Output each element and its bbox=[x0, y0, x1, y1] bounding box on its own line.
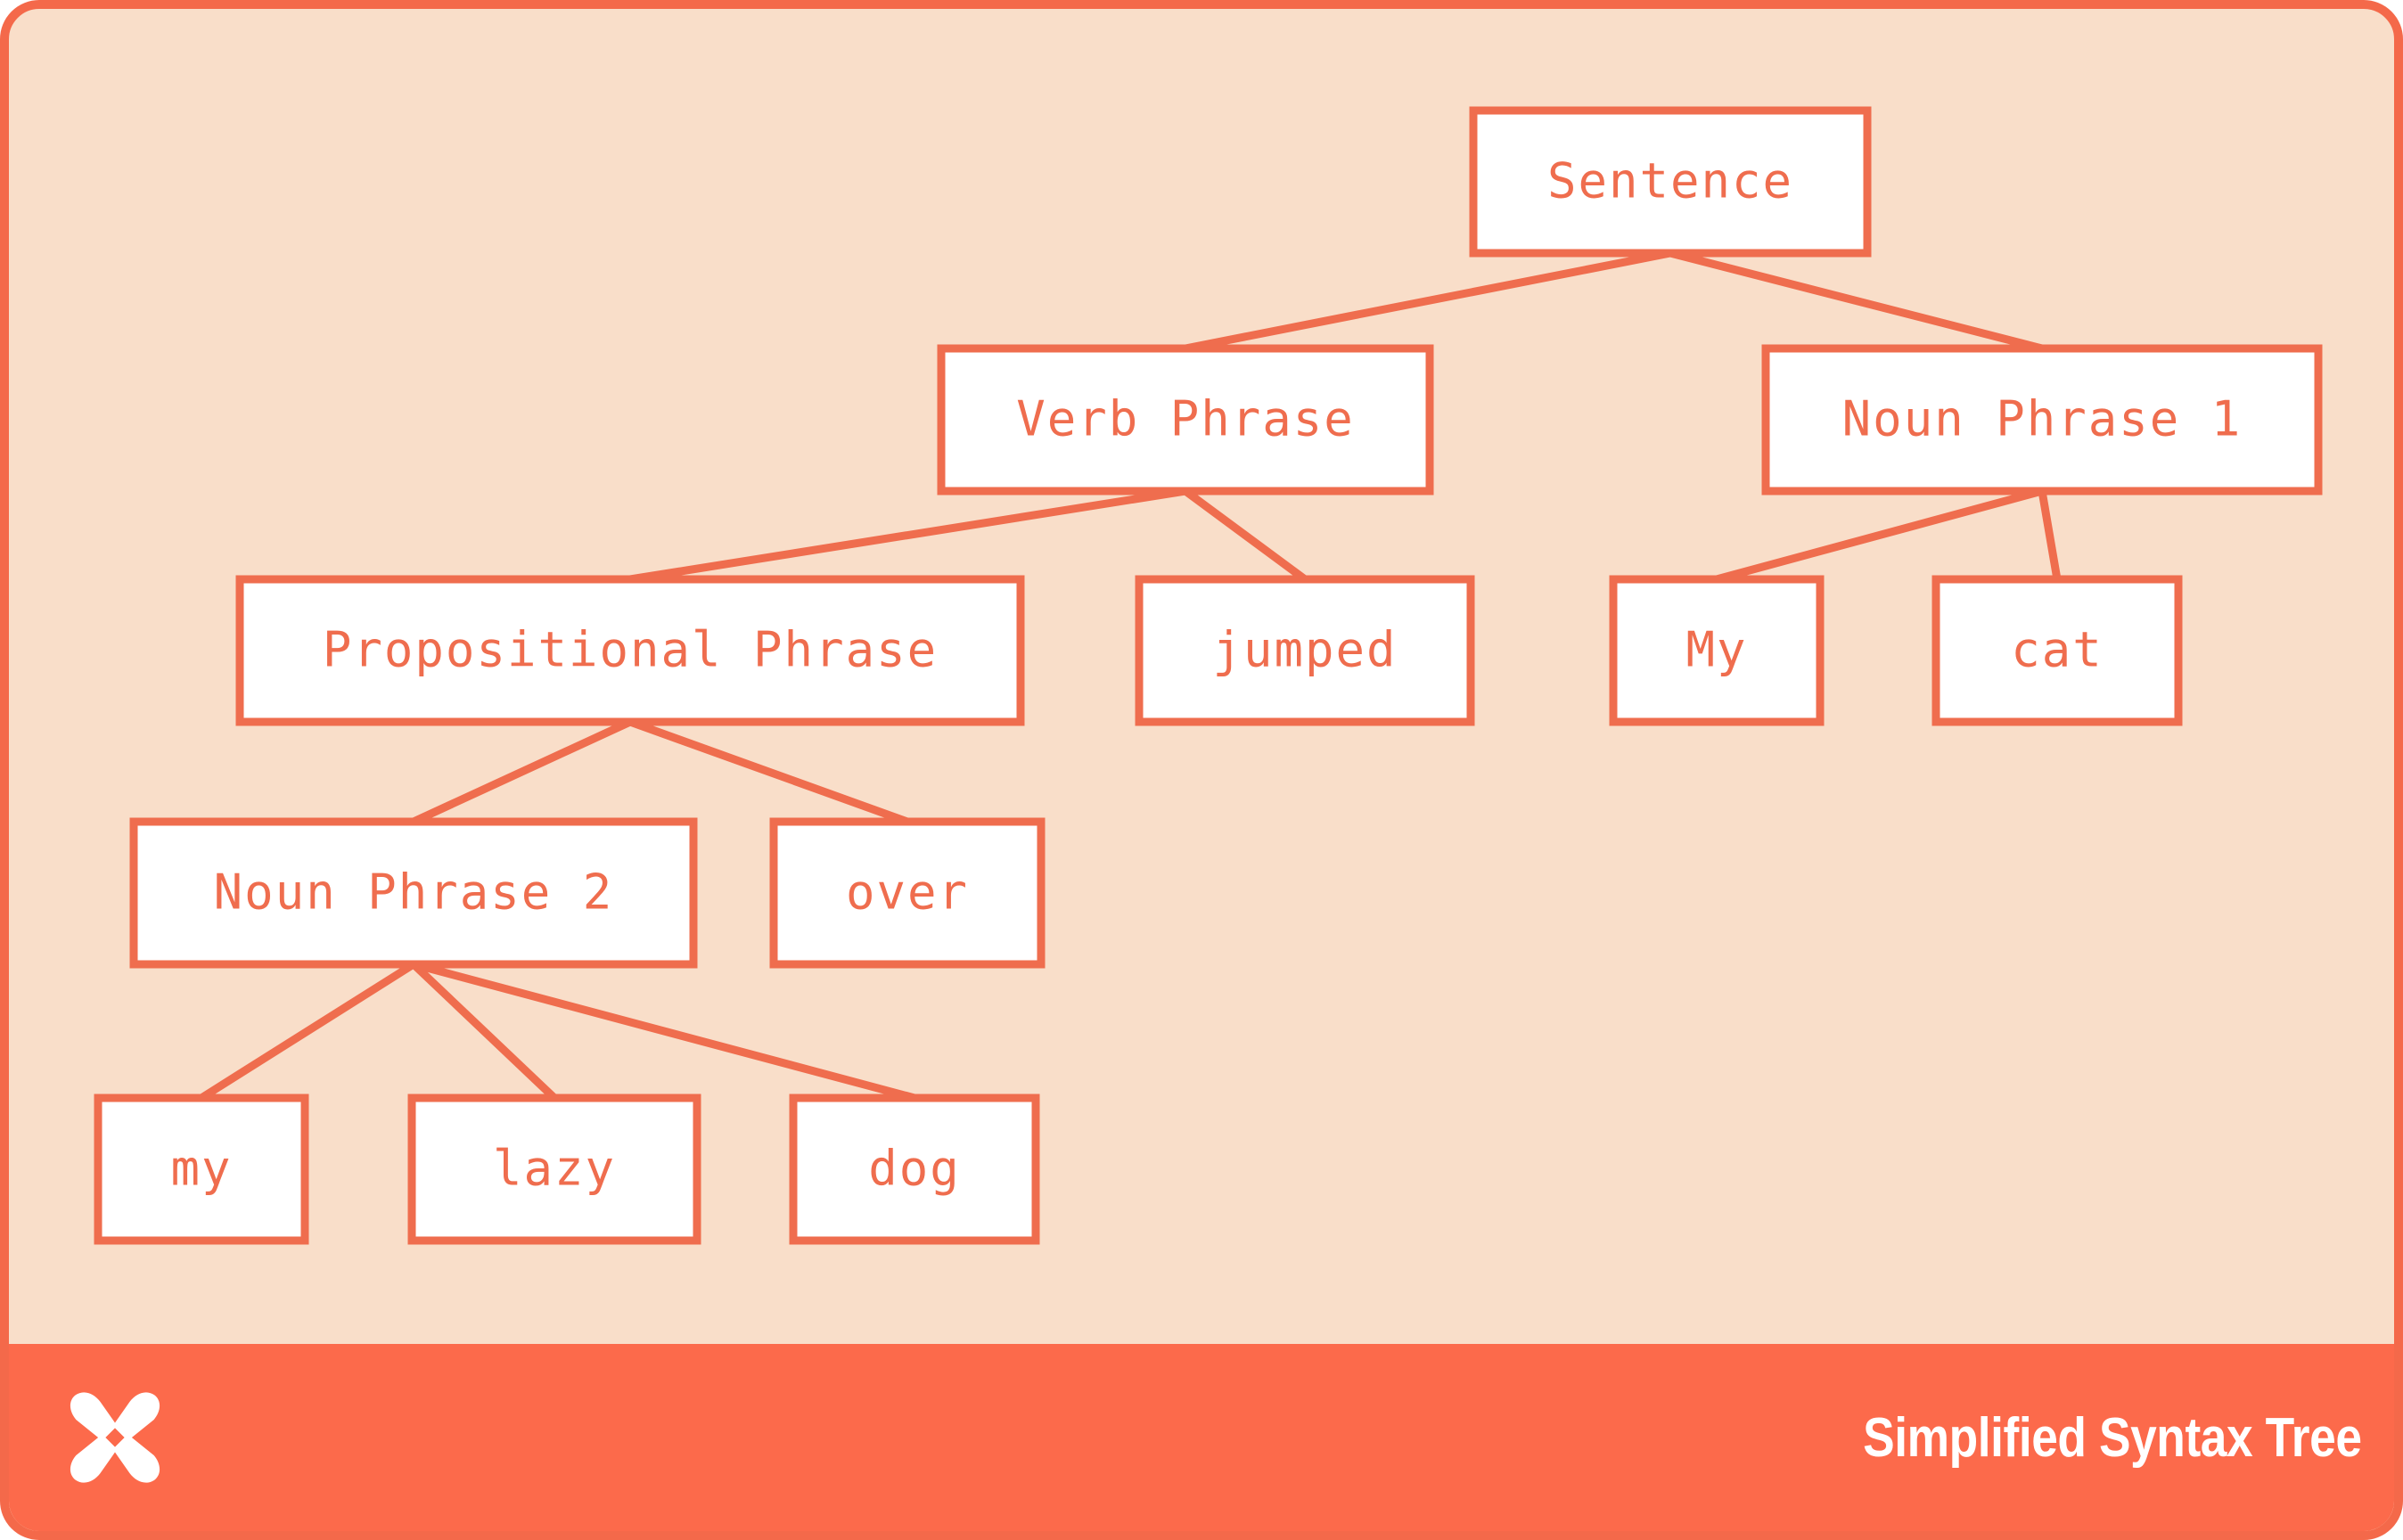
tree-nodes: SentenceVerb PhraseNoun Phrase 1Proposit… bbox=[98, 111, 2318, 1241]
tree-edge-np1-to-my_cap bbox=[1717, 491, 2042, 579]
footer-title: Simplified Syntax Tree bbox=[1864, 1406, 2362, 1470]
tree-node-over[interactable]: over bbox=[774, 822, 1041, 964]
tree-node-label: lazy bbox=[493, 1141, 616, 1197]
tree-node-label: jumped bbox=[1212, 622, 1397, 678]
tree-node-label: Verb Phrase bbox=[1016, 391, 1355, 447]
tree-canvas: SentenceVerb PhraseNoun Phrase 1Proposit… bbox=[9, 9, 2403, 1371]
tree-node-label: Sentence bbox=[1547, 153, 1793, 209]
tree-edge-pp-to-np2 bbox=[414, 722, 630, 822]
footer-bar: Simplified Syntax Tree bbox=[9, 1344, 2403, 1531]
tree-node-label: My bbox=[1685, 622, 1747, 678]
tree-edge-pp-to-over bbox=[630, 722, 907, 822]
tree-node-jumped[interactable]: jumped bbox=[1139, 579, 1471, 722]
tree-node-label: Noun Phrase 1 bbox=[1842, 391, 2243, 447]
tree-node-sentence[interactable]: Sentence bbox=[1473, 111, 1867, 253]
tree-node-np2[interactable]: Noun Phrase 2 bbox=[134, 822, 693, 964]
syntax-tree-page: SentenceVerb PhraseNoun Phrase 1Proposit… bbox=[0, 0, 2403, 1540]
syntax-tree-graphic: SentenceVerb PhraseNoun Phrase 1Proposit… bbox=[9, 9, 2403, 1371]
tree-node-lazy[interactable]: lazy bbox=[412, 1098, 697, 1241]
tree-node-pp[interactable]: Propositional Phrase bbox=[240, 579, 1021, 722]
tree-node-label: over bbox=[846, 864, 969, 921]
tree-node-np1[interactable]: Noun Phrase 1 bbox=[1766, 348, 2318, 491]
diagram-card: SentenceVerb PhraseNoun Phrase 1Proposit… bbox=[0, 0, 2403, 1540]
tree-node-my_low[interactable]: my bbox=[98, 1098, 305, 1241]
tree-edge-np1-to-cat bbox=[2042, 491, 2057, 579]
tree-edge-sentence-to-vp bbox=[1185, 253, 1670, 348]
tree-edge-vp-to-jumped bbox=[1185, 491, 1305, 579]
butterfly-x-logo-icon bbox=[62, 1385, 168, 1490]
tree-node-label: my bbox=[170, 1141, 232, 1197]
tree-node-label: dog bbox=[868, 1141, 961, 1197]
tree-node-vp[interactable]: Verb Phrase bbox=[941, 348, 1430, 491]
tree-node-dog[interactable]: dog bbox=[793, 1098, 1036, 1241]
tree-node-label: Noun Phrase 2 bbox=[214, 864, 614, 921]
tree-edge-np2-to-my_low bbox=[201, 964, 414, 1098]
tree-edge-vp-to-pp bbox=[630, 491, 1185, 579]
tree-node-cat[interactable]: cat bbox=[1936, 579, 2178, 722]
tree-node-label: cat bbox=[2011, 622, 2104, 678]
tree-edge-sentence-to-np1 bbox=[1670, 253, 2042, 348]
tree-node-my_cap[interactable]: My bbox=[1613, 579, 1820, 722]
tree-node-label: Propositional Phrase bbox=[323, 622, 938, 678]
